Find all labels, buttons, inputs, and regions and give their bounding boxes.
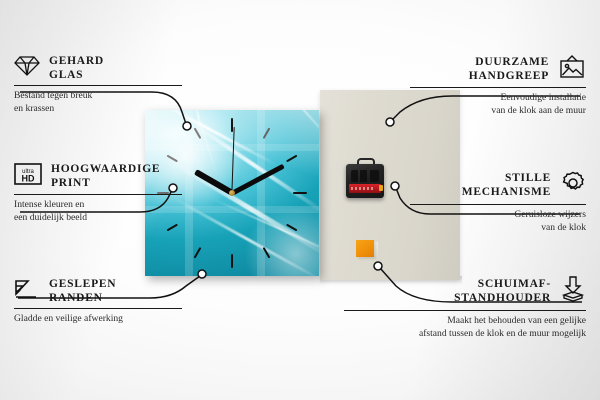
callout-description: Intense kleuren en een duidelijk beeld [14,199,190,223]
callout-rule [14,194,182,195]
press-down-icon [560,276,586,307]
callout-title: DUURZAME HANDGREEP [469,56,549,83]
battery-label [351,187,375,190]
infographic-canvas: GEHARD GLAS Bestand tegen breuk en krass… [0,0,600,400]
callout-header: DUURZAME HANDGREEP [410,55,586,84]
ultra-hd-icon: ultra HD [14,162,42,191]
movement-slots [351,170,379,182]
foam-spacer-pad [356,240,374,257]
callout-description: Geruisloze wijzers van de klok [410,209,586,233]
callout-title: GESLEPEN RANDEN [49,278,116,305]
callout-title: STILLE MECHANISME [462,172,551,199]
callout-header: GESLEPEN RANDEN [14,278,190,305]
callout-title: GEHARD GLAS [49,55,104,82]
callout-geslepen-randen: GESLEPEN RANDEN Gladde en veilige afwerk… [14,278,190,326]
callout-stille-mechanisme: STILLE MECHANISME Geruisloze wijzers van… [410,170,586,234]
foam-pad-side [374,242,378,259]
callout-rule [410,87,586,88]
callout-header: STILLE MECHANISME [410,170,586,201]
gear-icon [560,170,586,201]
callout-duurzame-handgreep: DUURZAME HANDGREEP Eenvoudige installati… [410,55,586,117]
callout-header: ultra HD HOOGWAARDIGE PRINT [14,162,190,191]
callout-title: SCHUIMAF- STANDHOUDER [454,278,551,305]
callout-description: Gladde en veilige afwerking [14,313,190,325]
callout-rule [410,204,586,205]
callout-hoogwaardige-print: ultra HD HOOGWAARDIGE PRINT Intense kleu… [14,162,190,224]
callout-rule [14,308,182,309]
callout-description: Eenvoudige installatie van de klok aan d… [410,92,586,116]
callout-description: Bestand tegen breuk en krassen [14,90,190,114]
svg-text:HD: HD [22,174,35,184]
beveled-edges-icon [14,278,40,305]
callout-title: HOOGWAARDIGE PRINT [51,163,160,190]
callout-schuimafstandhouder: SCHUIMAF- STANDHOUDER Maakt het behouden… [344,276,586,340]
battery-terminal [379,185,383,191]
callout-gehard-glas: GEHARD GLAS Bestand tegen breuk en krass… [14,55,190,115]
hanging-frame-icon [558,55,586,84]
callout-rule [14,85,182,86]
diamond-icon [14,55,40,82]
callout-header: GEHARD GLAS [14,55,190,82]
callout-header: SCHUIMAF- STANDHOUDER [344,276,586,307]
callout-rule [344,310,586,311]
callout-description: Maakt het behouden van een gelijke afsta… [344,315,586,339]
